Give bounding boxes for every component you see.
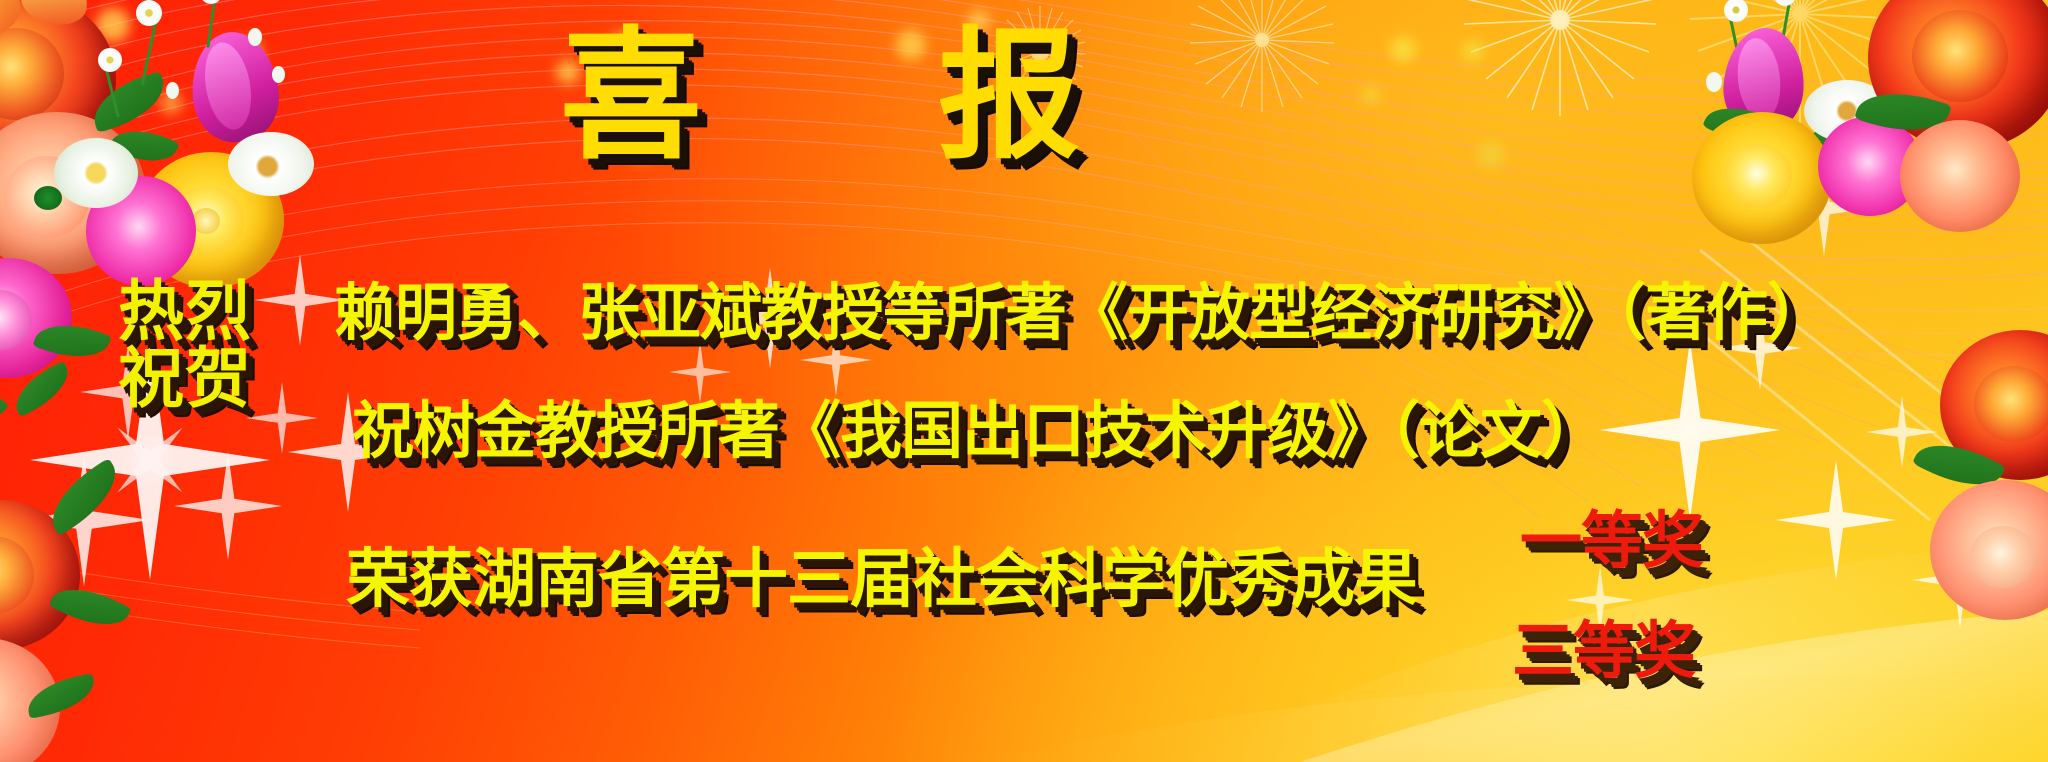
- flower-cluster-top-right: [1700, 0, 2048, 280]
- congratulation-label: 热烈 祝贺: [118, 278, 318, 413]
- flower-cluster-bottom-left: [0, 470, 130, 762]
- congrats-line-1: 热烈: [118, 278, 318, 345]
- title-char-2: 报: [938, 26, 1080, 168]
- achievement-line-3: 荣获湖南省第十三届社会科学优秀成果: [346, 548, 1417, 612]
- celebration-banner: 喜 报 热烈 祝贺 赖明勇、张亚斌教授等所著《开放型经济研究》（著作） 祝树金教…: [0, 0, 2048, 762]
- award-third-prize: 三等奖: [1512, 620, 1695, 682]
- flower-cluster-left-middle: [0, 250, 104, 470]
- award-first-prize: 一等奖: [1520, 510, 1703, 572]
- achievement-line-2: 祝树金教授所著《我国出口技术升级》（论文）: [352, 400, 1602, 462]
- flower-cluster-right-edge: [1930, 330, 2048, 630]
- page-title: 喜 报: [560, 12, 1080, 182]
- title-char-1: 喜: [560, 26, 702, 168]
- congrats-line-2: 祝贺: [118, 345, 318, 412]
- achievement-line-1: 赖明勇、张亚斌教授等所著《开放型经济研究》（著作）: [334, 282, 1828, 344]
